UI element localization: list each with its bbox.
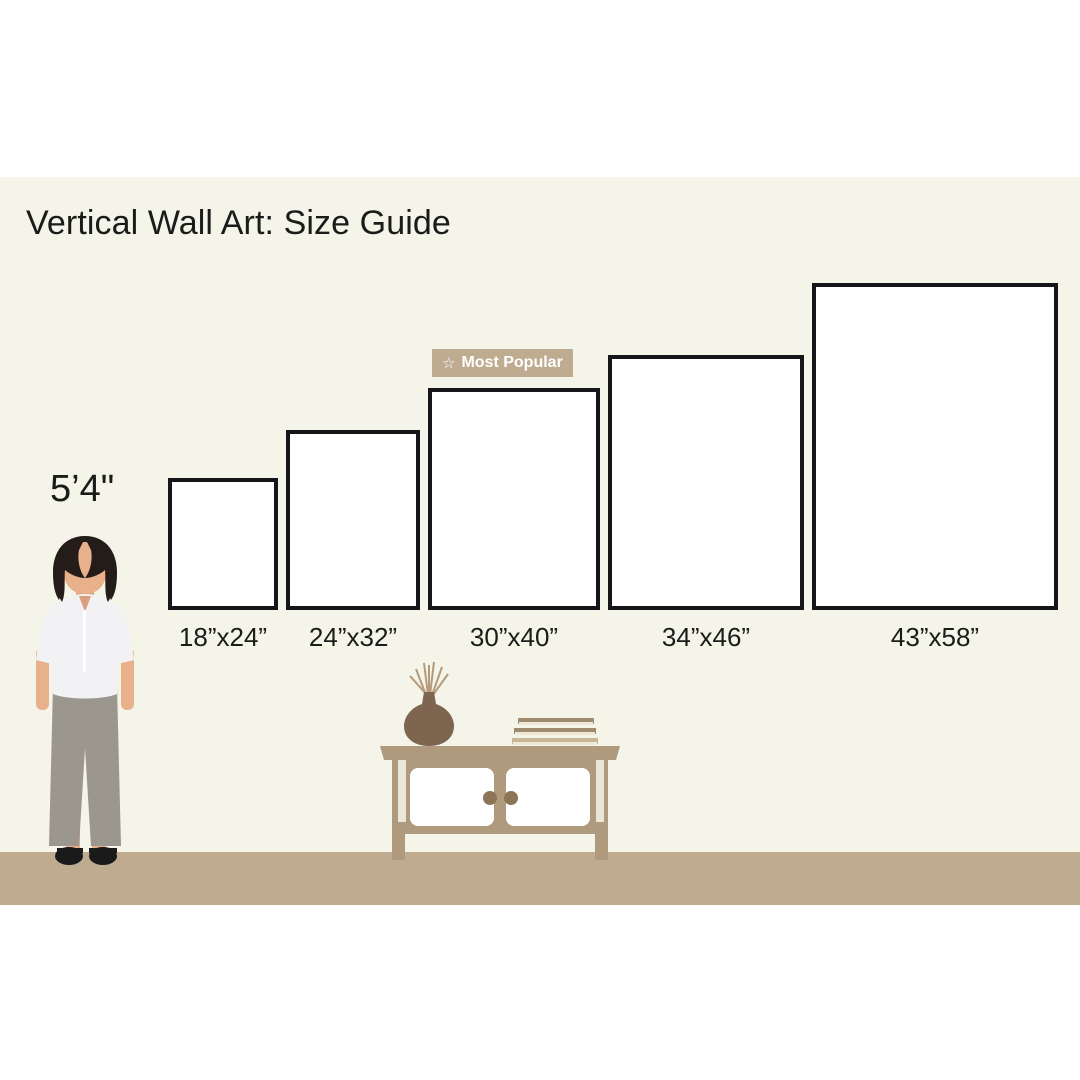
- most-popular-label: Most Popular: [461, 354, 562, 372]
- vase-stems: [410, 662, 448, 695]
- cabinet-door-left[interactable]: [410, 768, 494, 826]
- knob-left[interactable]: [483, 791, 497, 805]
- most-popular-badge: ☆ Most Popular: [432, 349, 573, 377]
- console-table: [372, 648, 628, 860]
- star-icon: ☆: [442, 354, 455, 372]
- size-guide-illustration: Vertical Wall Art: Size Guide 18”x24” 24…: [0, 0, 1080, 1080]
- pants: [49, 686, 121, 846]
- art-frame-34x46[interactable]: [608, 355, 804, 610]
- book-stack: [512, 718, 598, 745]
- vase: [404, 692, 454, 746]
- knob-right[interactable]: [504, 791, 518, 805]
- standing-woman-figure: [22, 528, 148, 868]
- height-reference-label: 5’4": [50, 468, 114, 511]
- page-title: Vertical Wall Art: Size Guide: [26, 204, 451, 243]
- art-frame-18x24[interactable]: [168, 478, 278, 610]
- cabinet-door-right[interactable]: [506, 768, 590, 826]
- art-frame-label-43x58: 43”x58”: [870, 622, 1000, 653]
- table-top: [380, 746, 620, 760]
- art-frame-label-18x24: 18”x24”: [158, 622, 288, 653]
- art-frame-24x32[interactable]: [286, 430, 420, 610]
- art-frame-label-34x46: 34”x46”: [641, 622, 771, 653]
- art-frame-43x58[interactable]: [812, 283, 1058, 610]
- blouse-placket: [83, 610, 86, 672]
- art-frame-30x40[interactable]: [428, 388, 600, 610]
